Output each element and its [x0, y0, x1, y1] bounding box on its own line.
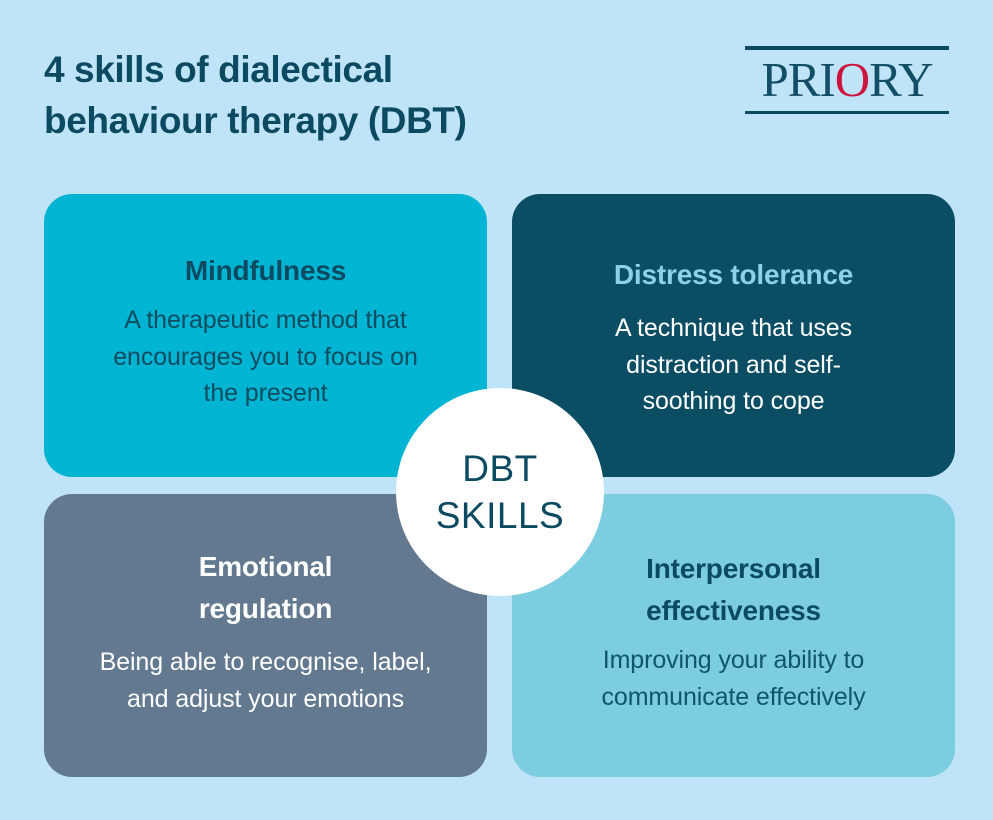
card-emotional-regulation-title: Emotional regulation [141, 546, 391, 630]
center-hub-line-1: DBT [462, 445, 538, 492]
card-interpersonal-effectiveness-body: Improving your ability to communicate ef… [561, 642, 906, 715]
center-hub-line-2: SKILLS [436, 492, 564, 539]
card-mindfulness-body: A therapeutic method that encourages you… [93, 302, 438, 412]
card-emotional-regulation-body: Being able to recognise, label, and adju… [86, 644, 446, 717]
card-mindfulness-title: Mindfulness [185, 250, 346, 292]
card-distress-tolerance-title: Distress tolerance [614, 254, 853, 296]
card-distress-tolerance-body: A technique that uses distraction and se… [584, 310, 884, 420]
center-hub: DBT SKILLS [396, 388, 604, 596]
card-interpersonal-effectiveness-title: Interpersonal effectiveness [594, 548, 874, 632]
